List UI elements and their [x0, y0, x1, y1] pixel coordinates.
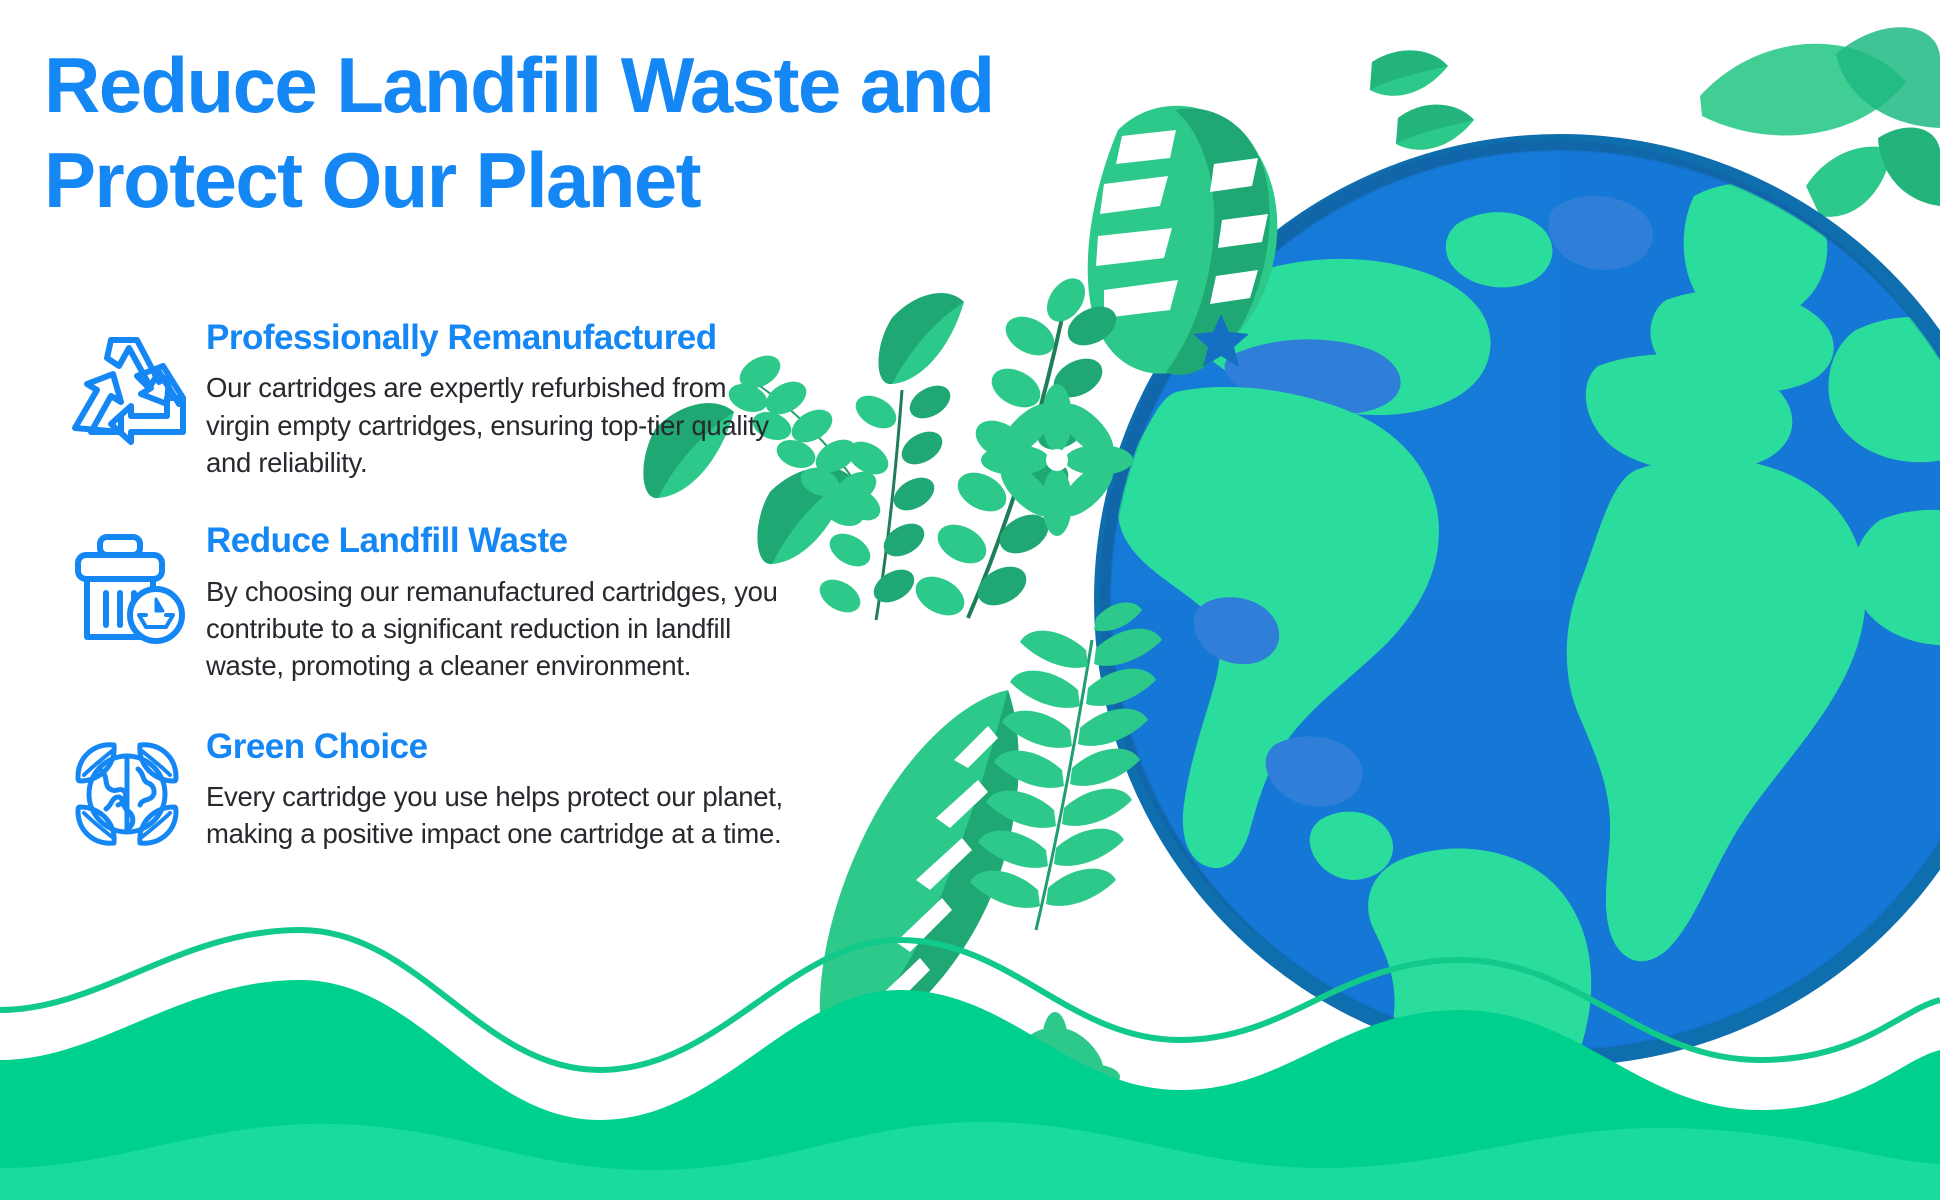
page-title: Reduce Landfill Waste and Protect Our Pl… — [44, 38, 1104, 228]
headline-line-2: Protect Our Planet — [44, 133, 1104, 228]
feature-description: Our cartridges are expertly refurbished … — [206, 369, 784, 481]
trash-bin-recycle-icon — [52, 521, 202, 653]
feature-body: Green Choice Every cartridge you use hel… — [202, 727, 1052, 853]
headline-line-1: Reduce Landfill Waste and — [44, 41, 994, 129]
infographic-canvas: Reduce Landfill Waste and Protect Our Pl… — [0, 0, 1940, 1200]
monstera-leaf — [1088, 106, 1278, 375]
top-right-leaves — [1370, 50, 1940, 217]
feature-item: Professionally Remanufactured Our cartri… — [52, 318, 1052, 481]
feature-item: Green Choice Every cartridge you use hel… — [52, 727, 1052, 859]
feature-description: By choosing our remanufactured cartridge… — [206, 573, 784, 685]
feature-body: Reduce Landfill Waste By choosing our re… — [202, 521, 1052, 684]
feature-title: Green Choice — [206, 727, 1052, 767]
feature-list: Professionally Remanufactured Our cartri… — [52, 318, 1052, 859]
content-column: Reduce Landfill Waste and Protect Our Pl… — [0, 0, 1100, 1200]
earth-globe-illustration — [1094, 134, 1940, 1187]
feature-description: Every cartridge you use helps protect ou… — [206, 778, 784, 853]
globe-back-foliage — [1700, 27, 1940, 135]
feature-item: Reduce Landfill Waste By choosing our re… — [52, 521, 1052, 684]
recycle-arrows-icon — [52, 318, 202, 450]
feature-body: Professionally Remanufactured Our cartri… — [202, 318, 1052, 481]
feature-title: Professionally Remanufactured — [206, 318, 1052, 358]
star-accent-icon — [1193, 314, 1249, 367]
feature-title: Reduce Landfill Waste — [206, 521, 1052, 561]
globe-leaves-icon — [52, 727, 202, 859]
